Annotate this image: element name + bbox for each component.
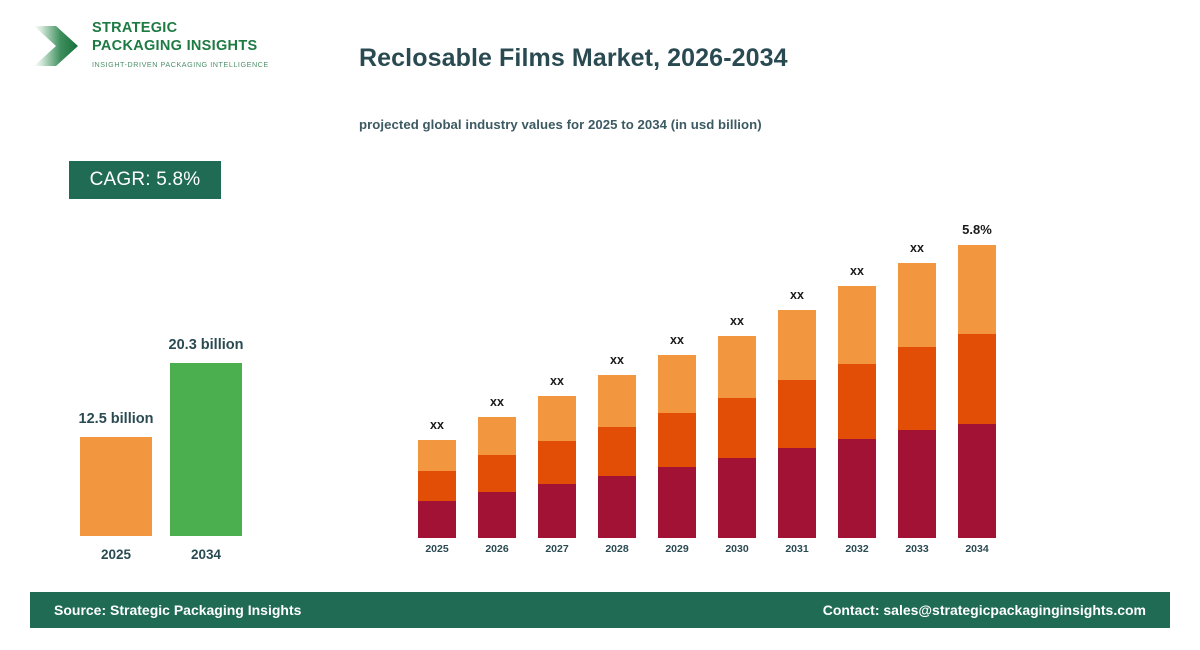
stacked-bar: 5.8%2034 [958,245,996,538]
cagr-badge: CAGR: 5.8% [69,161,221,199]
stacked-x-label: 2032 [845,543,868,555]
stacked-segment-segment-middle [538,441,576,484]
stacked-segment-segment-middle [658,413,696,467]
comparison-x-label: 2025 [101,547,131,562]
stacked-x-label: 2033 [905,543,928,555]
stacked-segment-segment-bottom [478,492,516,538]
stacked-segment-segment-top [418,440,456,471]
comparison-x-label: 2034 [191,547,221,562]
stacked-segment-segment-top [538,396,576,441]
comparison-column-2025: 12.5 billion2025 [80,437,152,536]
stacked-column-2027: xx2027 [538,396,576,538]
stacked-segment-segment-bottom [898,430,936,538]
stacked-segment-segment-top [478,417,516,455]
stacked-bar: xx2026 [478,417,516,538]
stacked-value-label: xx [790,288,804,302]
stacked-x-label: 2034 [965,543,988,555]
comparison-bar-chart: 12.5 billion202520.3 billion2034 [60,300,310,570]
stacked-column-2033: xx2033 [898,263,936,538]
footer-bar: Source: Strategic Packaging Insights Con… [30,592,1170,628]
stacked-bar: xx2027 [538,396,576,538]
chevron-right-logo-icon [32,24,80,68]
stacked-segment-segment-top [838,286,876,364]
comparison-value-label: 12.5 billion [79,411,154,427]
stacked-column-2030: xx2030 [718,336,756,538]
stacked-segment-segment-middle [898,347,936,430]
stacked-value-label: xx [610,353,624,367]
comparison-column-2034: 20.3 billion2034 [170,363,242,536]
stacked-x-label: 2030 [725,543,748,555]
stacked-segment-segment-top [778,310,816,380]
stacked-segment-segment-bottom [538,484,576,538]
stacked-value-label: xx [430,418,444,432]
stacked-column-2031: xx2031 [778,310,816,538]
stacked-bar: xx2031 [778,310,816,538]
stacked-segment-segment-top [898,263,936,347]
stacked-bar: xx2030 [718,336,756,538]
stacked-segment-segment-top [658,355,696,413]
stacked-bar: xx2033 [898,263,936,538]
brand-wordmark: STRATEGIC PACKAGING INSIGHTS INSIGHT-DRI… [92,19,269,69]
brand-name-line1: STRATEGIC [92,20,177,36]
footer-contact-label: Contact: sales@strategicpackaginginsight… [823,602,1146,618]
page-title: Reclosable Films Market, 2026-2034 [359,44,788,73]
stacked-segment-segment-top [958,245,996,334]
stacked-x-label: 2031 [785,543,808,555]
stacked-x-label: 2028 [605,543,628,555]
brand-name-line2: PACKAGING INSIGHTS [92,38,257,54]
comparison-bar [170,363,242,536]
stacked-segment-segment-bottom [718,458,756,538]
stacked-value-label: xx [490,395,504,409]
stacked-x-label: 2027 [545,543,568,555]
stacked-x-label: 2025 [425,543,448,555]
stacked-column-2032: xx2032 [838,286,876,538]
brand-logo: STRATEGIC PACKAGING INSIGHTS INSIGHT-DRI… [30,16,260,78]
comparison-value-label: 20.3 billion [169,337,244,353]
stacked-column-2025: xx2025 [418,440,456,538]
stacked-value-label: 5.8% [962,222,992,237]
stacked-segment-segment-middle [598,427,636,476]
stacked-x-label: 2026 [485,543,508,555]
stacked-segment-segment-bottom [838,439,876,538]
stacked-column-2029: xx2029 [658,355,696,538]
stacked-segment-segment-bottom [958,424,996,538]
stacked-value-label: xx [910,241,924,255]
footer-source-label: Source: Strategic Packaging Insights [54,602,301,618]
stacked-segment-segment-middle [478,455,516,492]
stacked-column-2028: xx2028 [598,375,636,538]
stacked-segment-segment-bottom [778,448,816,538]
stacked-segment-segment-top [598,375,636,427]
stacked-segment-segment-middle [838,364,876,439]
stacked-segment-segment-top [718,336,756,398]
brand-tagline: INSIGHT-DRIVEN PACKAGING INTELLIGENCE [92,60,269,69]
comparison-bar [80,437,152,536]
stacked-value-label: xx [730,314,744,328]
stacked-x-label: 2029 [665,543,688,555]
stacked-column-2034: 5.8%2034 [958,245,996,538]
stacked-segment-segment-middle [418,471,456,501]
stacked-bar: xx2032 [838,286,876,538]
stacked-value-label: xx [670,333,684,347]
stacked-segment-segment-bottom [598,476,636,538]
stacked-value-label: xx [550,374,564,388]
stacked-bar: xx2028 [598,375,636,538]
stacked-segment-segment-middle [778,380,816,448]
stacked-value-label: xx [850,264,864,278]
stacked-column-2026: xx2026 [478,417,516,538]
stacked-segment-segment-bottom [418,501,456,538]
stacked-segment-segment-middle [718,398,756,458]
stacked-segment-segment-middle [958,334,996,424]
stacked-bar-chart: xx2025xx2026xx2027xx2028xx2029xx2030xx20… [416,190,1036,560]
stacked-bar: xx2025 [418,440,456,538]
stacked-segment-segment-bottom [658,467,696,538]
page-subtitle: projected global industry values for 202… [359,117,762,132]
stacked-bar: xx2029 [658,355,696,538]
